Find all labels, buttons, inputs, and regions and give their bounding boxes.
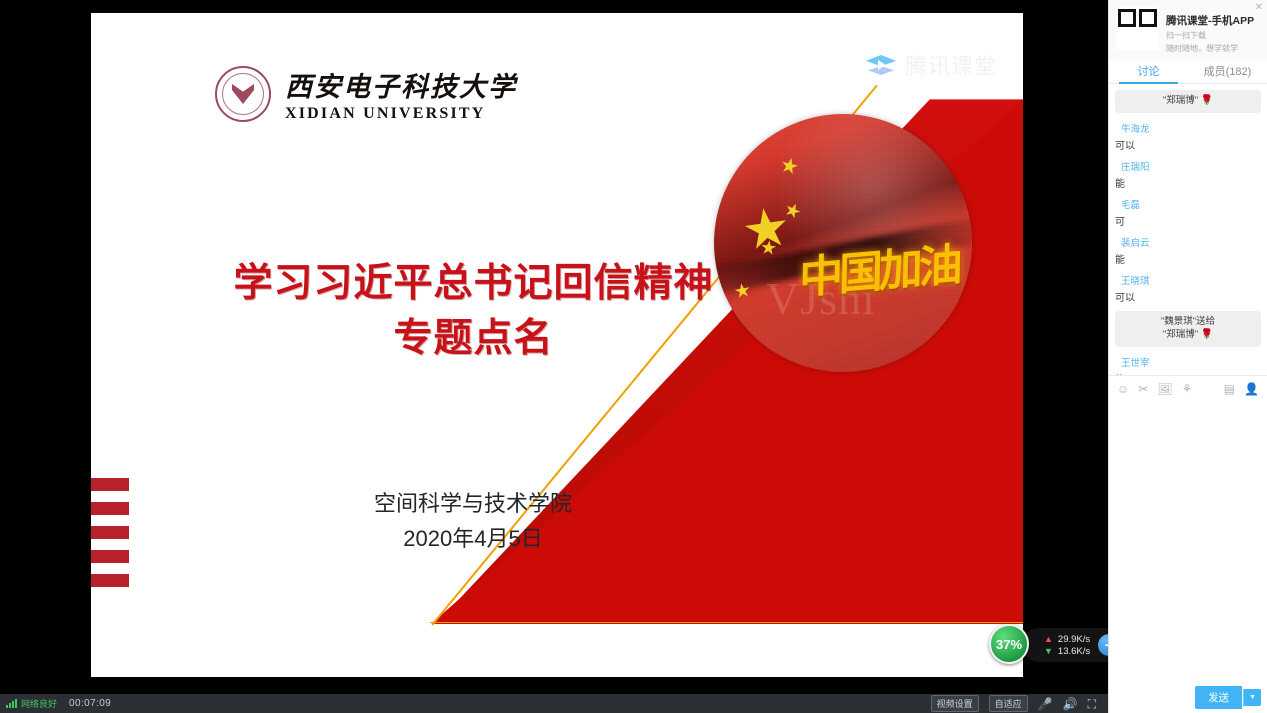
upload-speed-row: ▲ 29.9K/s: [1044, 634, 1090, 645]
panel-tabs[interactable]: 讨论 成员(182): [1109, 59, 1267, 84]
university-logo: 西安电子科技大学 XIDIAN UNIVERSITY: [215, 65, 517, 123]
chat-message: 毛磊可: [1115, 197, 1261, 228]
gift-receiver-line: "郑瑞博" 🌹: [1121, 94, 1255, 109]
university-name-cn: 西安电子科技大学: [285, 65, 517, 104]
gift-message: "魏景琪"送给"郑瑞博" 🌹: [1115, 311, 1261, 347]
chat-message-author[interactable]: 庄瑞阳: [1121, 159, 1261, 173]
chat-message-author[interactable]: 毛磊: [1121, 197, 1261, 211]
mobile-app-promo-banner[interactable]: 腾讯课堂-手机APP 扫一扫下载 随时随地，想学就学 ✕: [1109, 0, 1267, 59]
emoji-icon[interactable]: ☺: [1117, 383, 1129, 395]
player-control-bar[interactable]: 网络良好 00:07:09 视频设置 自适应 🎤 🔊 ⛶: [0, 694, 1108, 713]
video-settings-button[interactable]: 视频设置: [931, 695, 979, 712]
graduation-cap-play-icon: [866, 50, 896, 80]
network-percent-dial[interactable]: 37%: [989, 624, 1029, 664]
chat-message-author[interactable]: 王世宰: [1121, 355, 1261, 369]
send-button[interactable]: 发送: [1195, 686, 1242, 709]
send-options-chevron-icon[interactable]: ▼: [1243, 689, 1261, 706]
flag-star-small-2: ★: [781, 199, 804, 223]
network-percent-value: 37%: [996, 637, 1022, 652]
chat-text-input[interactable]: [1109, 401, 1267, 686]
chat-message-body: 能: [1115, 371, 1261, 375]
slide-title-line2: 专题点名: [161, 311, 786, 366]
gift-flower-icon[interactable]: ⚘: [1182, 383, 1193, 395]
chat-message: 王世宰能: [1115, 355, 1261, 375]
chat-toolbar-right-group: ▤ 👤: [1224, 383, 1259, 395]
speed-readout: ▲ 29.9K/s ▼ 13.6K/s: [1044, 634, 1090, 657]
network-status-badge: 网络良好: [6, 697, 57, 710]
chat-panel: 腾讯课堂-手机APP 扫一扫下载 随时随地，想学就学 ✕ 讨论 成员(182) …: [1108, 0, 1267, 713]
control-bar-right-group: 视频设置 自适应 🎤 🔊 ⛶: [931, 695, 1096, 712]
slide-subtitle-date: 2020年4月5日: [273, 521, 673, 556]
chat-message: 裴启云能: [1115, 235, 1261, 266]
person-icon[interactable]: 👤: [1244, 383, 1259, 395]
fullscreen-icon[interactable]: ⛶: [1088, 698, 1096, 710]
chat-message-author[interactable]: 裴启云: [1121, 235, 1261, 249]
send-row: 发送 ▼: [1109, 686, 1267, 713]
message-list[interactable]: "郑瑞博" 🌹牛海龙可以庄瑞阳能毛磊可裴启云能王晓琪可以"魏景琪"送给"郑瑞博"…: [1109, 84, 1267, 375]
promo-subtitle-1: 扫一扫下载: [1166, 30, 1254, 41]
flag-star-small-1: ★: [778, 154, 801, 179]
gift-message: "郑瑞博" 🌹: [1115, 90, 1261, 113]
upload-arrow-icon: ▲: [1044, 634, 1053, 644]
promo-title: 腾讯课堂-手机APP: [1166, 13, 1254, 28]
download-speed-row: ▼ 13.6K/s: [1044, 646, 1090, 657]
slide-bar-decoration: [91, 478, 129, 598]
chat-message-author[interactable]: 王晓琪: [1121, 273, 1261, 287]
seal-inner-shape: [232, 84, 254, 104]
flag-calligraphy-text: 中国加油: [799, 230, 945, 307]
promo-subtitle-2: 随时随地，想学就学: [1166, 43, 1254, 54]
chat-message-body: 可以: [1115, 289, 1261, 304]
scissors-screenshot-icon[interactable]: ✂: [1138, 383, 1148, 395]
platform-brand-label: 腾讯课堂: [905, 49, 997, 81]
close-icon[interactable]: ✕: [1255, 2, 1263, 13]
rose-icon: 🌹: [1201, 329, 1213, 340]
slide-title-line1: 学习习近平总书记回信精神: [161, 256, 786, 311]
card-list-icon[interactable]: ▤: [1224, 383, 1235, 395]
chat-message-body: 可: [1115, 213, 1261, 228]
video-stage[interactable]: ★ ★ ★ ★ ★ VJshi 中国加油 西安电子科技大学 XIDIAN UNI…: [0, 0, 1108, 694]
tencent-classroom-logo: 腾讯课堂: [866, 49, 997, 81]
chat-message: 庄瑞阳能: [1115, 159, 1261, 190]
app-root: ★ ★ ★ ★ ★ VJshi 中国加油 西安电子科技大学 XIDIAN UNI…: [0, 0, 1267, 713]
slide-subtitle-department: 空间科学与技术学院: [273, 486, 673, 521]
gift-receiver-line: "郑瑞博" 🌹: [1121, 328, 1255, 343]
flag-star-large: ★: [738, 199, 793, 259]
upload-speed-value: 29.9K/s: [1058, 634, 1090, 645]
tab-members[interactable]: 成员(182): [1188, 59, 1267, 83]
presentation-slide[interactable]: ★ ★ ★ ★ ★ VJshi 中国加油 西安电子科技大学 XIDIAN UNI…: [91, 13, 1023, 677]
rose-icon: 🌹: [1201, 95, 1213, 106]
chat-input-toolbar[interactable]: ☺ ✂ 🖼 ⚘ ▤ 👤: [1109, 375, 1267, 401]
chat-message-body: 能: [1115, 251, 1261, 266]
microphone-muted-icon[interactable]: 🎤: [1038, 698, 1053, 710]
slide-title: 学习习近平总书记回信精神 专题点名: [161, 256, 786, 367]
signal-bars-icon: [6, 699, 17, 708]
network-status-label: 网络良好: [21, 697, 57, 710]
download-arrow-icon: ▼: [1044, 646, 1053, 656]
university-name-en: XIDIAN UNIVERSITY: [285, 105, 517, 123]
speaker-icon[interactable]: 🔊: [1063, 698, 1078, 710]
chat-message-author[interactable]: 牛海龙: [1121, 121, 1261, 135]
chat-message-body: 能: [1115, 175, 1261, 190]
qr-code-icon[interactable]: [1116, 7, 1159, 50]
download-speed-value: 13.6K/s: [1058, 646, 1090, 657]
slide-subtitle: 空间科学与技术学院 2020年4月5日: [273, 486, 673, 556]
university-name-block: 西安电子科技大学 XIDIAN UNIVERSITY: [285, 65, 517, 123]
gift-sender-line: "魏景琪"送给: [1121, 315, 1255, 329]
quality-selector-button[interactable]: 自适应: [989, 695, 1028, 712]
image-upload-icon[interactable]: 🖼: [1157, 383, 1172, 395]
tab-discussion[interactable]: 讨论: [1109, 59, 1188, 83]
promo-text-block: 腾讯课堂-手机APP 扫一扫下载 随时随地，想学就学: [1166, 7, 1254, 59]
university-seal-icon: [215, 66, 271, 122]
session-timer: 00:07:09: [69, 698, 111, 709]
chat-message-body: 可以: [1115, 137, 1261, 152]
chat-message: 王晓琪可以: [1115, 273, 1261, 304]
chat-message: 牛海龙可以: [1115, 121, 1261, 152]
